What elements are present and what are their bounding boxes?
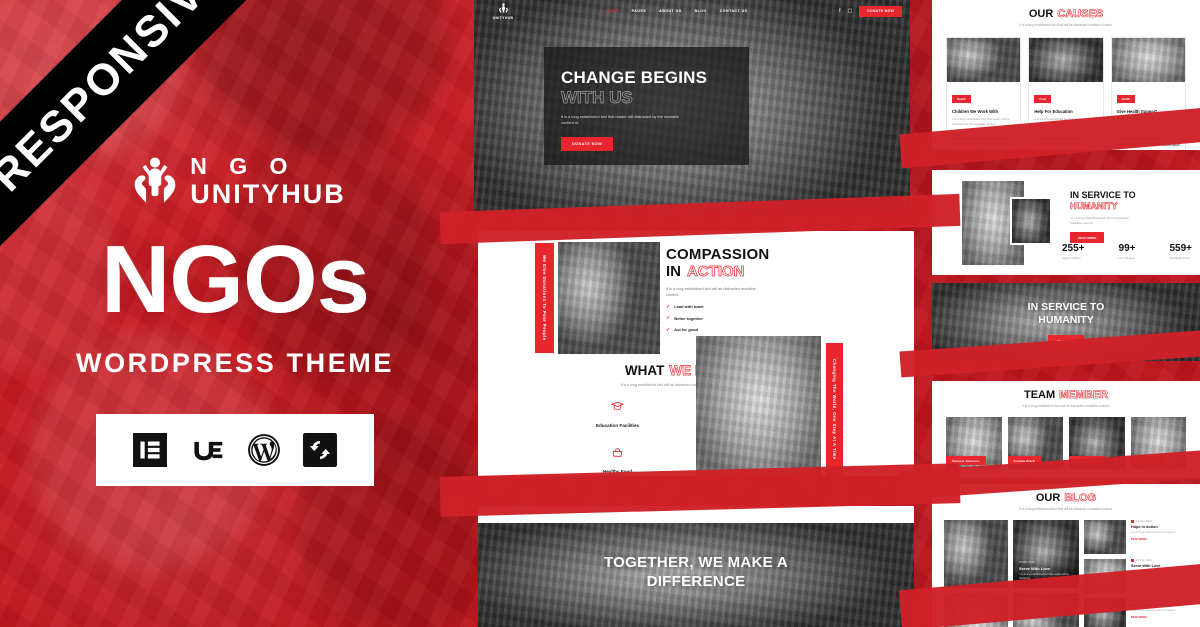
progress-bar xyxy=(1034,138,1097,140)
healthy-food-icon xyxy=(611,446,624,464)
blog-post-title: Hope In Action xyxy=(1131,603,1188,607)
banner-title-line1: IN SERVICE TO xyxy=(932,301,1200,314)
stat-number: 99+ xyxy=(1119,244,1136,254)
stat-label: Worldwide Donor xyxy=(1170,257,1193,260)
status-badge: Health xyxy=(952,95,971,103)
stat-label: Happy Children xyxy=(1062,257,1085,260)
service-photo-inset xyxy=(1010,197,1052,245)
stat-item: 559+ Worldwide Donor xyxy=(1170,244,1193,260)
blog-post-paragraph: Lorem ipsum dolor sit amet, consectetur. xyxy=(1131,609,1188,613)
cause-title: Help For Education xyxy=(1034,109,1097,114)
hero-menu: HOME PAGES ABOUT US BLOG CONTACT US xyxy=(606,9,748,13)
compassion-side-tab: We Give Donations To Poor People xyxy=(535,243,554,353)
compassion-heading-2a: IN xyxy=(666,264,681,280)
brand-logo-top: N G O xyxy=(190,155,295,178)
stat-number: 559+ xyxy=(1170,244,1193,254)
nav-item-about-us[interactable]: ABOUT US xyxy=(659,9,681,13)
hero-navbar: UNITYHUB HOME PAGES ABOUT US BLOG CONTAC… xyxy=(474,0,910,22)
blog-post-paragraph: Lorem ipsum dolor sit amet, consectetur. xyxy=(1131,531,1188,535)
elementor-icon xyxy=(133,433,167,467)
cause-paragraph: It is a long established fact that reade… xyxy=(952,117,1015,127)
progress-label: Donation xyxy=(952,132,963,136)
causes-header: OUR CAUSES It is a long established fact… xyxy=(932,0,1200,28)
stat-label: Our Volunteer xyxy=(1119,257,1136,260)
service-paragraph: It is a long established fact will be di… xyxy=(1070,216,1130,226)
team-member-card[interactable]: Samuel Johnson xyxy=(946,417,1002,469)
screenshot-blog[interactable]: OUR BLOG It is a long established fact t… xyxy=(932,484,1200,627)
hero-title-line1: CHANGE BEGINS xyxy=(561,69,732,87)
blog-read-more-link[interactable]: READ MORE xyxy=(1131,538,1188,541)
stat-item: 255+ Happy Children xyxy=(1062,244,1085,260)
stat-item: 99+ Our Volunteer xyxy=(1119,244,1136,260)
team-member-name: Emma Harris xyxy=(1131,456,1164,465)
progress-value: 80% xyxy=(1092,132,1098,136)
plugin-badges xyxy=(96,414,374,486)
promo-subheadline: WORDPRESS THEME xyxy=(76,348,394,379)
calendar-icon xyxy=(1131,520,1134,523)
goal-label: Raised: $9800 xyxy=(1161,143,1180,147)
together-title: TOGETHER, WE MAKE A DIFFERENCE xyxy=(478,554,914,592)
blog-post-title: Serve With Love xyxy=(1131,564,1188,568)
hero-logo[interactable]: UNITYHUB xyxy=(482,2,524,20)
checklist-item: ✓Lead with heart xyxy=(666,304,836,310)
cause-title: Children We Work With xyxy=(952,109,1015,114)
progress-value: 75% xyxy=(1174,132,1180,136)
screenshot-service[interactable]: IN SERVICE TO HUMANITY It is a long esta… xyxy=(932,170,1200,275)
blog-read-more-link[interactable]: READ MORE xyxy=(1131,616,1188,619)
wwd-heading-black: WHAT xyxy=(625,364,665,378)
team-heading-black: TEAM xyxy=(1024,390,1055,401)
blog-feature-card[interactable]: 15 May, 2024 Serve With Love xyxy=(1013,593,1079,627)
blog-post-row[interactable]: 15 May, 2024 Hope In Action Lorem ipsum … xyxy=(1084,520,1188,554)
education-icon xyxy=(611,400,624,418)
blog-feature-title: Serve With Love xyxy=(1019,566,1073,571)
blog-photo[interactable] xyxy=(944,593,1008,627)
blog-post-date: 15 May, 2024 xyxy=(1136,559,1152,562)
blog-feature-card[interactable]: 15 May, 2024 Serve With Love It is a lon… xyxy=(1013,520,1079,588)
cause-card[interactable]: Health Give Health Support It is a long … xyxy=(1111,37,1186,150)
service-heading-black: IN SERVICE TO xyxy=(1070,191,1190,201)
cause-paragraph: It is a long established fact that reade… xyxy=(1034,117,1097,127)
blog-feature-date: 15 May, 2024 xyxy=(1019,561,1073,564)
stat-number: 255+ xyxy=(1062,244,1085,254)
causes-heading-black: OUR xyxy=(1029,9,1053,20)
service-item[interactable]: Education Facilities xyxy=(570,400,665,428)
blog-post-title: Hope In Action xyxy=(1131,525,1188,529)
team-heading-outline: MEMBER xyxy=(1059,390,1108,401)
raised-label: Raised: $8600 xyxy=(1117,143,1136,147)
progress-bar xyxy=(1117,138,1180,140)
hero-content-card: CHANGE BEGINS WITH US It is a long estab… xyxy=(544,47,749,165)
team-member-card[interactable]: Sophia Clark xyxy=(1008,417,1064,469)
cause-photo xyxy=(1029,38,1102,82)
team-member-name: William Turner xyxy=(1069,456,1105,465)
team-member-card[interactable]: Emma Harris xyxy=(1131,417,1187,469)
banner-read-more-button[interactable]: READ MORE xyxy=(1048,335,1084,347)
promo-banner: RESPONSIVE N G O UNITYHUB NGOs WORDPRE xyxy=(0,0,1200,627)
brand-logo: N G O UNITYHUB xyxy=(124,150,346,212)
checklist-item: ✓Act for good xyxy=(666,327,836,333)
screenshot-causes[interactable]: OUR CAUSES It is a long established fact… xyxy=(932,0,1200,150)
cause-title: Give Health Support xyxy=(1117,109,1180,114)
progress-label: Donation xyxy=(1034,132,1045,136)
cause-photo xyxy=(947,38,1020,82)
progress-bar xyxy=(952,138,1015,140)
goal-label: Goal: $10,000 xyxy=(997,143,1015,147)
screenshot-banner[interactable]: IN SERVICE TO HUMANITY READ MORE xyxy=(932,283,1200,361)
ultimate-addons-icon xyxy=(189,433,225,467)
check-icon: ✓ xyxy=(666,327,670,333)
blog-post-photo xyxy=(1084,598,1126,627)
compassion-photo-secondary xyxy=(696,336,821,476)
facebook-icon[interactable]: f xyxy=(839,8,840,14)
screenshot-compassion[interactable]: We Give Donations To Poor People COMPASS… xyxy=(478,231,914,476)
blog-post-photo xyxy=(1084,520,1126,554)
cause-paragraph: It is a long established fact that reade… xyxy=(1117,117,1180,127)
banner-title-line2: HUMANITY xyxy=(932,314,1200,327)
screenshot-together[interactable]: TOGETHER, WE MAKE A DIFFERENCE xyxy=(478,506,914,627)
hero-logo-label: UNITYHUB xyxy=(493,16,514,20)
team-member-card[interactable]: William Turner xyxy=(1069,417,1125,469)
blog-post-date: 15 May, 2024 xyxy=(1136,598,1152,601)
compassion-photo xyxy=(558,242,660,354)
team-member-name: Samuel Johnson xyxy=(946,456,986,465)
check-icon: ✓ xyxy=(666,304,670,310)
service-item[interactable]: Healthy Food xyxy=(570,446,665,474)
screenshot-hero[interactable]: UNITYHUB HOME PAGES ABOUT US BLOG CONTAC… xyxy=(474,0,910,214)
nav-item-contact-us[interactable]: CONTACT US xyxy=(720,9,748,13)
blog-heading-outline: BLOG xyxy=(1064,493,1096,504)
compassion-paragraph: It is a long established fact will be di… xyxy=(666,286,764,299)
ngo-unityhub-logo-icon xyxy=(124,150,186,212)
status-badge: Health xyxy=(1117,95,1136,103)
service-heading-outline: HUMANITY xyxy=(1070,202,1190,212)
service-read-more-button[interactable]: READ MORE xyxy=(1070,232,1104,243)
stats-row: 255+ Happy Children 99+ Our Volunteer 55… xyxy=(1062,244,1192,260)
nav-item-blog[interactable]: BLOG xyxy=(695,9,707,13)
blog-photo[interactable] xyxy=(944,520,1008,588)
compassion-heading-1: COMPASSION xyxy=(666,247,836,263)
blog-post-paragraph: Lorem ipsum dolor sit amet, consectetur. xyxy=(1131,570,1188,574)
causes-heading-outline: CAUSES xyxy=(1057,9,1103,20)
goal-label: Goal: $10,000 xyxy=(1080,143,1098,147)
brand-panel: N G O UNITYHUB NGOs WORDPRESS THEME xyxy=(0,150,470,486)
blog-post-photo xyxy=(1084,559,1126,593)
screenshot-team[interactable]: TEAM MEMBER It is a long established fac… xyxy=(932,381,1200,478)
hero-donate-button[interactable]: DONATE NOW xyxy=(859,6,902,17)
compassion-heading-2b: ACTION xyxy=(687,264,745,280)
one-click-demo-import-icon xyxy=(303,433,337,467)
nav-item-home[interactable]: HOME xyxy=(606,9,619,13)
compassion-text: COMPASSION IN ACTION It is a long establ… xyxy=(666,247,836,333)
progress-value: 98% xyxy=(1010,132,1016,136)
hero-title-line2: WITH US xyxy=(561,89,732,107)
calendar-icon xyxy=(1131,559,1134,562)
hero-paragraph: It is a long established fact that reade… xyxy=(561,114,681,127)
blog-post-row[interactable]: 15 May, 2024 Hope In Action Lorem ipsum … xyxy=(1084,598,1188,627)
instagram-icon[interactable]: ▢ xyxy=(847,8,852,14)
nav-item-pages[interactable]: PAGES xyxy=(632,9,647,13)
promo-headline: NGOs xyxy=(101,232,369,328)
blog-post-row[interactable]: 15 May, 2024 Serve With Love Lorem ipsum… xyxy=(1084,559,1188,593)
blog-post-date: 15 May, 2024 xyxy=(1136,520,1152,523)
blog-heading-black: OUR xyxy=(1036,493,1060,504)
raised-label: Raised: $9800 xyxy=(952,143,971,147)
checklist-item: ✓Better together xyxy=(666,315,836,321)
cause-card[interactable]: Food Help For Education It is a long est… xyxy=(1028,37,1103,150)
blog-read-more-link[interactable]: READ MORE xyxy=(1131,577,1188,580)
brand-logo-bottom: UNITYHUB xyxy=(190,181,346,208)
cause-photo xyxy=(1112,38,1185,82)
raised-label: Raised: $8600 xyxy=(1034,143,1053,147)
hero-donate-cta[interactable]: DONATE NOW xyxy=(561,137,613,151)
check-icon: ✓ xyxy=(666,315,670,321)
progress-label: Donation xyxy=(1117,132,1128,136)
cause-card[interactable]: Health Children We Work With It is a lon… xyxy=(946,37,1021,150)
wordpress-icon xyxy=(247,433,281,467)
compassion-side-tab-right: Changing The World, One Step At A Time xyxy=(826,343,843,476)
team-member-name: Sophia Clark xyxy=(1008,456,1041,465)
calendar-icon xyxy=(1131,598,1134,601)
blog-feature-paragraph: It is a long established fact that reade… xyxy=(1019,573,1073,581)
status-badge: Food xyxy=(1034,95,1051,103)
